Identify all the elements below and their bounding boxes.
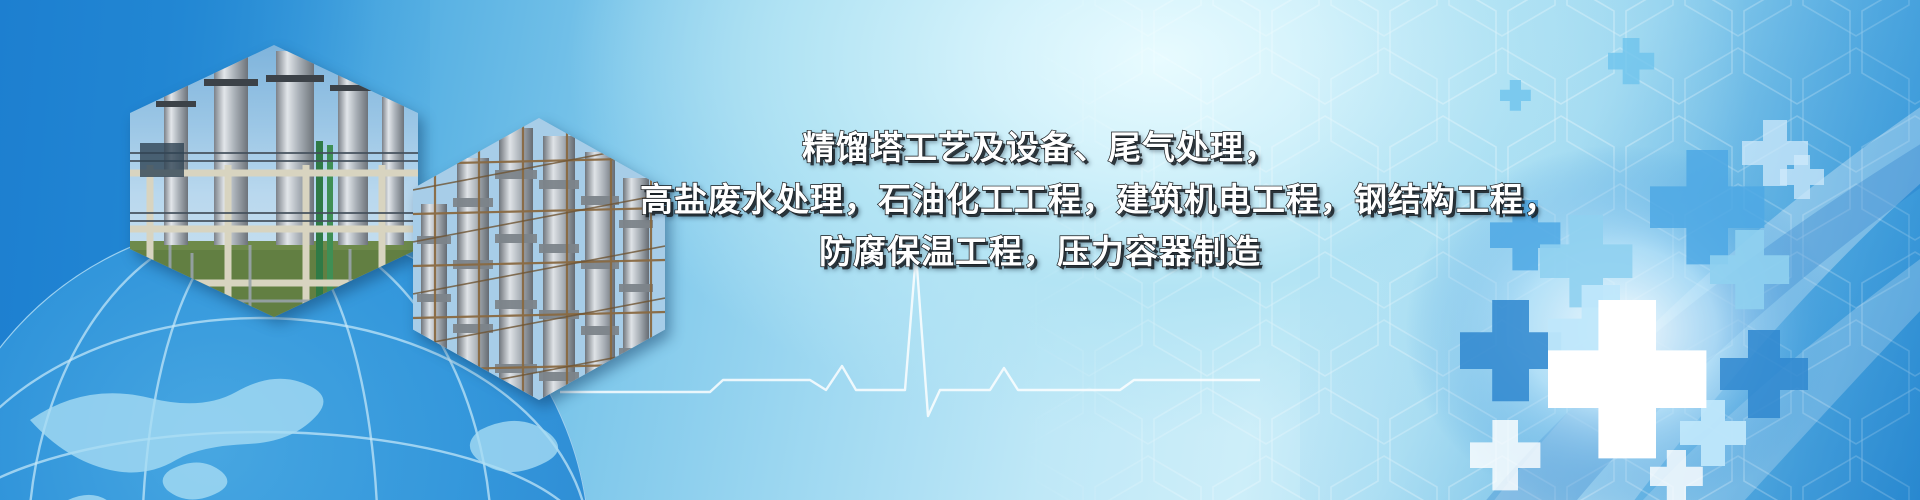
scaffolded-refinery-illustration bbox=[413, 118, 665, 400]
headline-copy: 精馏塔工艺及设备、尾气处理， 高盐废水处理，石油化工工程，建筑机电工程，钢结构工… bbox=[640, 122, 1440, 278]
promo-banner: 精馏塔工艺及设备、尾气处理， 高盐废水处理，石油化工工程，建筑机电工程，钢结构工… bbox=[0, 0, 1920, 500]
headline-line-2: 高盐废水处理，石油化工工程，建筑机电工程，钢结构工程， bbox=[640, 174, 1440, 226]
distillation-tower-illustration bbox=[130, 45, 418, 317]
photo-hex-scaffolded-refinery bbox=[413, 118, 665, 400]
photo-hex-distillation-tower bbox=[130, 45, 418, 317]
headline-line-3: 防腐保温工程，压力容器制造 bbox=[640, 226, 1440, 278]
headline-line-1: 精馏塔工艺及设备、尾气处理， bbox=[640, 122, 1440, 174]
